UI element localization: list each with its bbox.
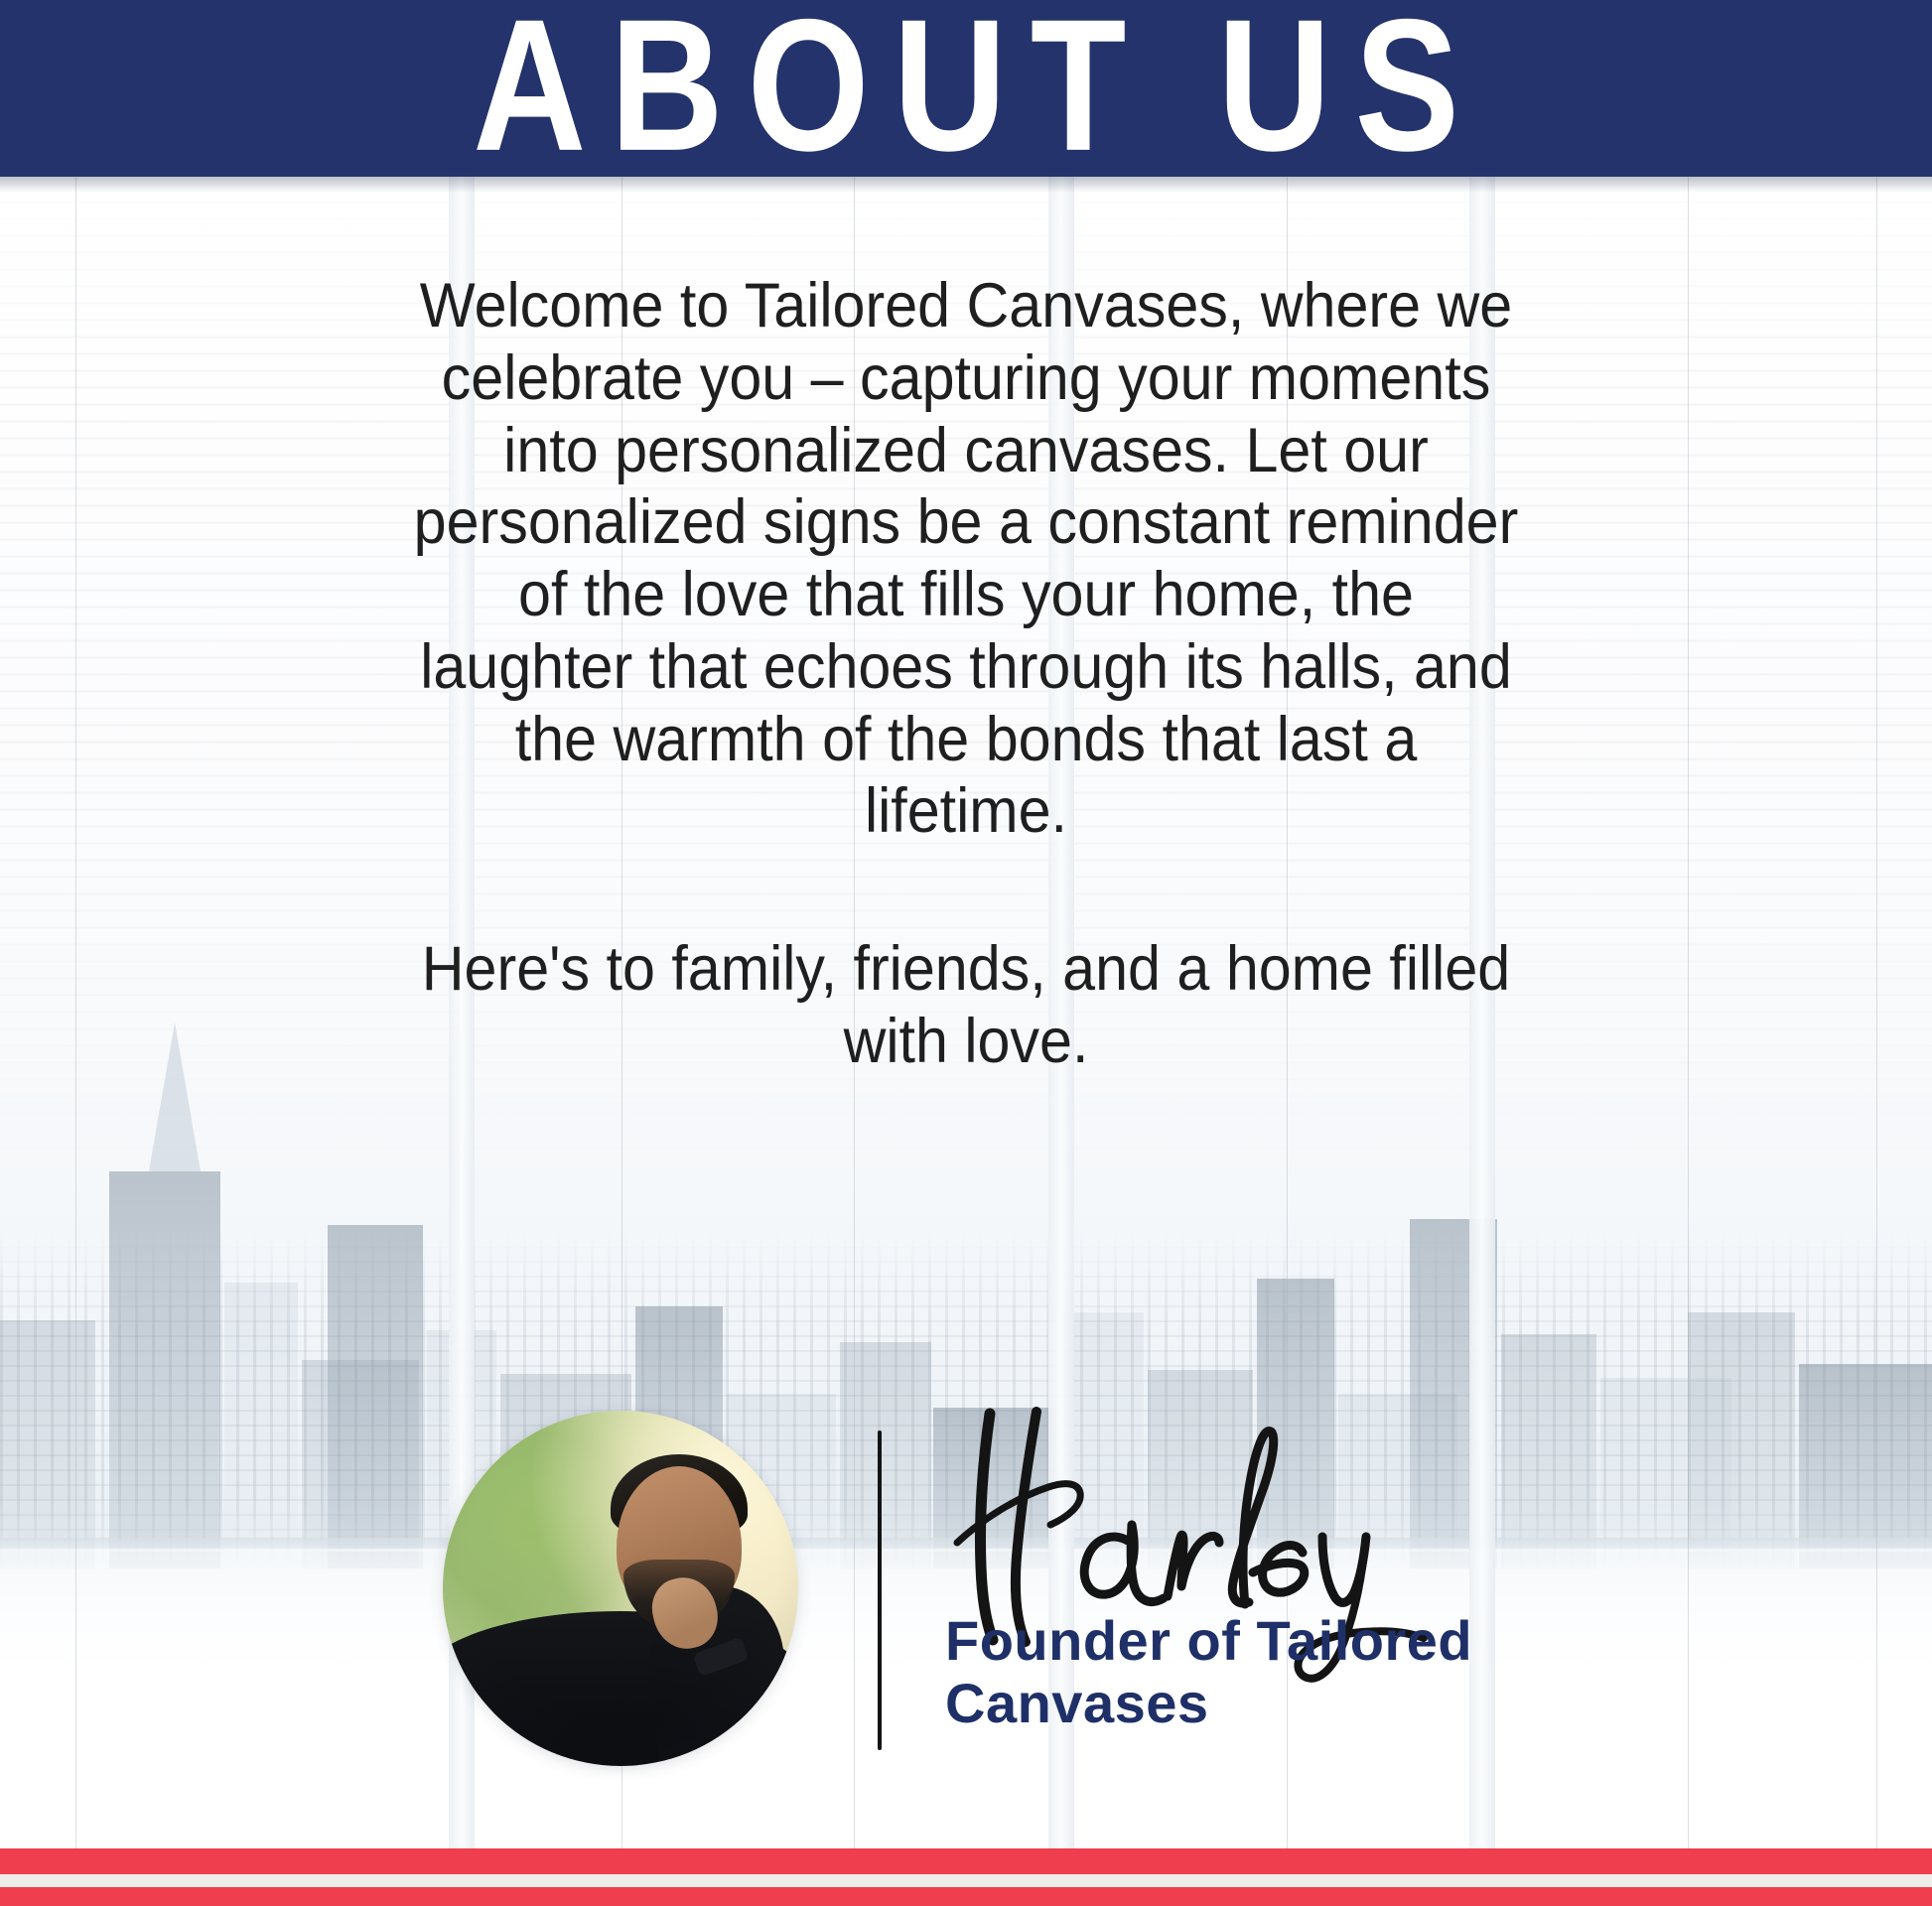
founder-avatar: [443, 1411, 798, 1766]
header-drop-shadow: [0, 177, 1932, 193]
footer-stripe-gap: [0, 1874, 1932, 1887]
footer-stripe-bottom: [0, 1887, 1932, 1906]
signature-divider-line: [878, 1430, 882, 1750]
about-paragraph-1: Welcome to Tailored Canvases, where we c…: [406, 270, 1526, 848]
about-us-body: Welcome to Tailored Canvases, where we c…: [370, 270, 1562, 1078]
founder-role: Founder of Tailored Canvases: [945, 1610, 1561, 1734]
founder-role-line-2: Canvases: [945, 1673, 1561, 1735]
page-header-banner: ABOUT US: [0, 0, 1932, 177]
founder-role-line-1: Founder of Tailored: [945, 1610, 1561, 1673]
avatar-vignette: [443, 1411, 798, 1766]
page-title: ABOUT US: [449, 0, 1483, 177]
footer-stripe-top: [0, 1848, 1932, 1874]
about-us-poster: ABOUT US Welcome to Tailored Canvases, w…: [0, 0, 1932, 1906]
about-paragraph-2: Here's to family, friends, and a home fi…: [406, 933, 1526, 1078]
